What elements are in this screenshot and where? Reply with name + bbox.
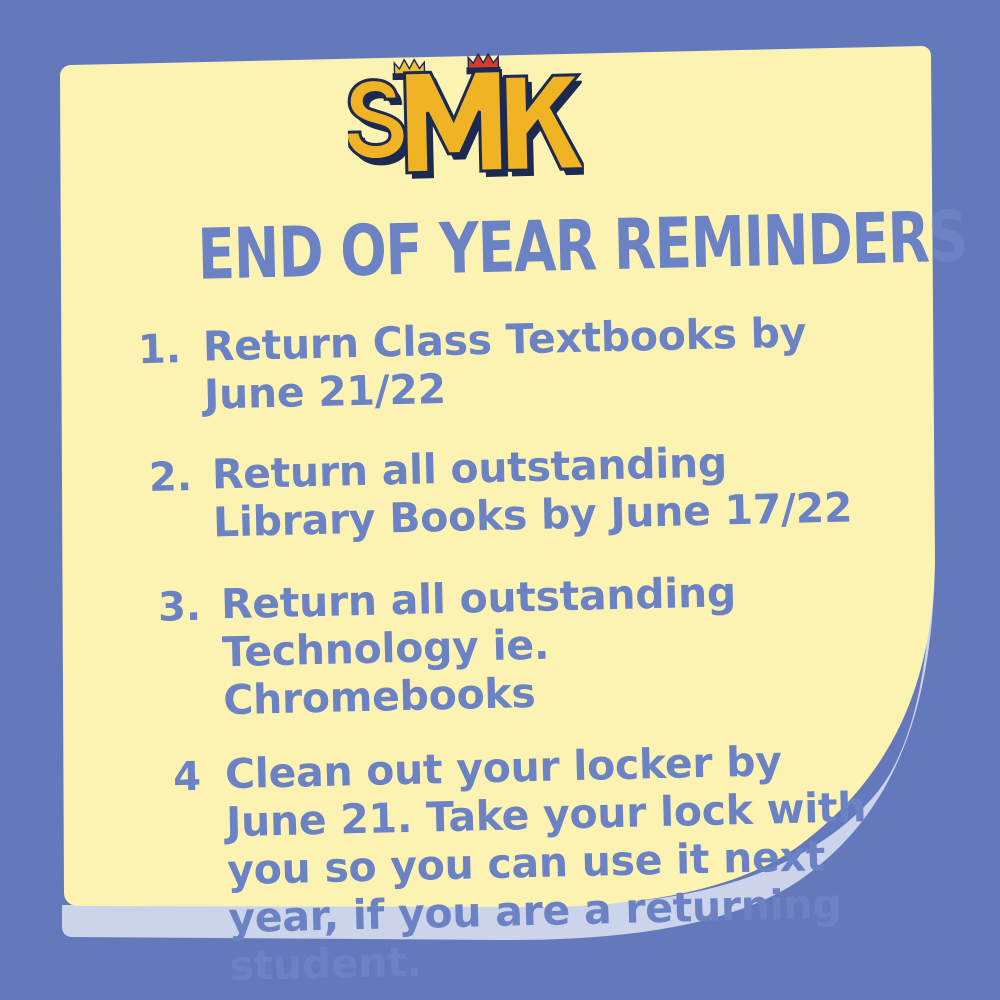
note-content: END OF YEAR REMINDERS 1. Return Class Te… (58, 34, 954, 944)
list-item: 1. Return Class Textbooks by June 21/22 (124, 307, 926, 422)
list-item: 4 Clean out your locker by June 21. Take… (134, 734, 939, 993)
list-item-text: Return all outstanding Library Books by … (211, 436, 868, 547)
smk-logo-graphic (346, 51, 584, 206)
page-title: END OF YEAR REMINDERS (197, 205, 815, 289)
list-item-number: 2. (143, 452, 192, 502)
smk-logo (346, 51, 584, 206)
list-item: 2. Return all outstanding Library Books … (127, 435, 929, 550)
list-item-text: Return all outstanding Technology ie. Ch… (220, 567, 823, 725)
list-item-number: 3. (152, 582, 201, 632)
list-item: 3. Return all outstanding Technology ie.… (130, 564, 933, 727)
poster-canvas: END OF YEAR REMINDERS 1. Return Class Te… (0, 0, 1000, 1000)
reminders-list: 1. Return Class Textbooks by June 21/22 … (124, 307, 940, 1000)
list-item-text: Clean out your locker by June 21. Take y… (224, 736, 879, 991)
list-item-number: 4 (152, 752, 201, 802)
list-item-text: Return Class Textbooks by June 21/22 (202, 308, 864, 419)
list-item-number: 1. (132, 324, 181, 374)
